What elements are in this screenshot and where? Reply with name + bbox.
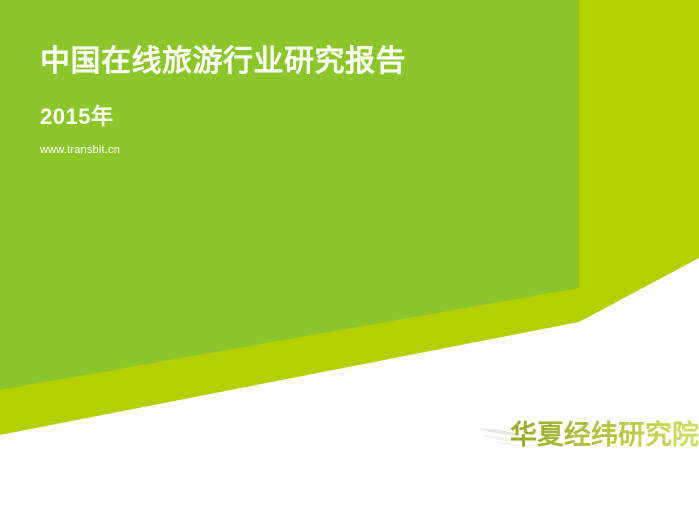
title-block: 中国在线旅游行业研究报告 2015年 www.transbit.cn xyxy=(40,44,600,157)
report-cover-slide: 中国在线旅游行业研究报告 2015年 www.transbit.cn 华夏经纬研… xyxy=(0,0,699,525)
page-title: 中国在线旅游行业研究报告 xyxy=(40,44,600,79)
cover-content: 中国在线旅游行业研究报告 2015年 www.transbit.cn 华夏经纬研… xyxy=(0,0,699,525)
brand-name: 华夏经纬研究院 xyxy=(510,417,699,453)
website-url: www.transbit.cn xyxy=(40,131,600,157)
brand-lockup: 华夏经纬研究院 xyxy=(478,414,678,462)
report-year: 2015年 xyxy=(40,79,600,130)
